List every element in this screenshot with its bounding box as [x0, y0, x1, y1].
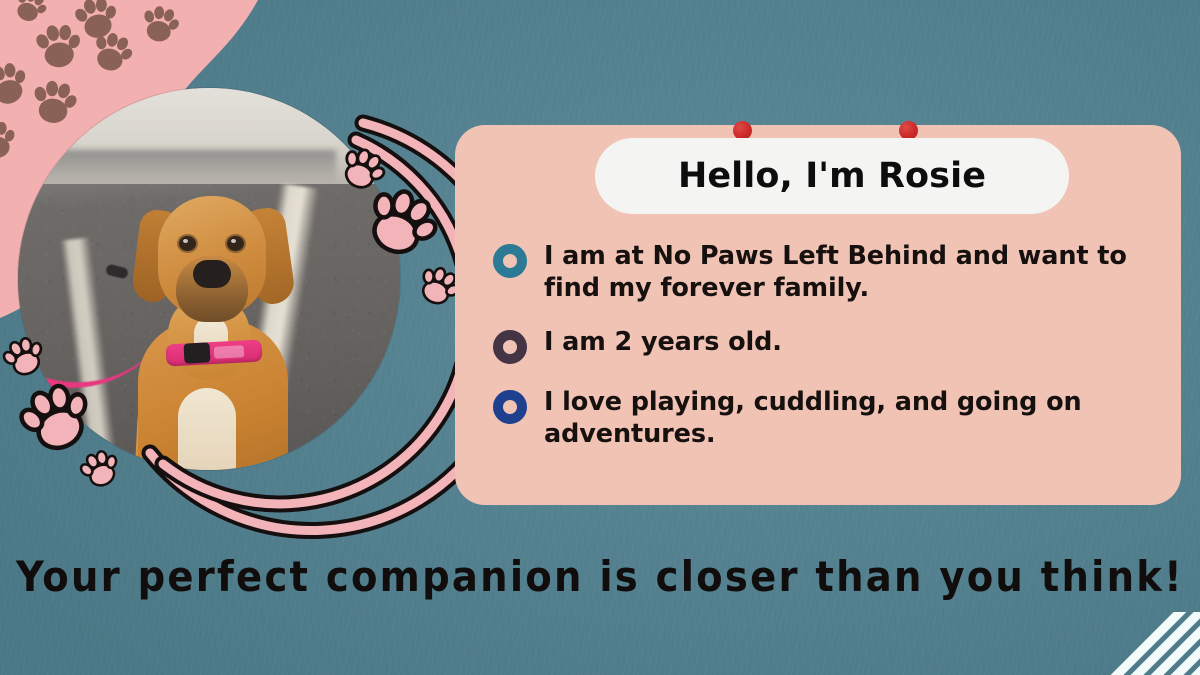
- list-item: I love playing, cuddling, and going on a…: [493, 386, 1133, 450]
- dog-photo: [18, 88, 400, 470]
- title-pill: Hello, I'm Rosie: [595, 138, 1069, 214]
- list-item: I am 2 years old.: [493, 326, 1133, 364]
- list-item: I am at No Paws Left Behind and want to …: [493, 240, 1133, 304]
- bullet-ring-icon: [493, 330, 527, 364]
- bullet-ring-icon: [493, 244, 527, 278]
- dog-illustration: [18, 88, 400, 470]
- bullet-text: I am at No Paws Left Behind and want to …: [544, 240, 1129, 304]
- tagline: Your perfect companion is closer than yo…: [0, 552, 1200, 601]
- bullet-text: I am 2 years old.: [544, 326, 782, 358]
- bullet-list: I am at No Paws Left Behind and want to …: [493, 240, 1133, 473]
- adoption-poster: Hello, I'm Rosie I am at No Paws Left Be…: [0, 0, 1200, 675]
- page-title: Hello, I'm Rosie: [678, 159, 986, 194]
- bullet-text: I love playing, cuddling, and going on a…: [544, 386, 1129, 450]
- bullet-ring-icon: [493, 390, 527, 424]
